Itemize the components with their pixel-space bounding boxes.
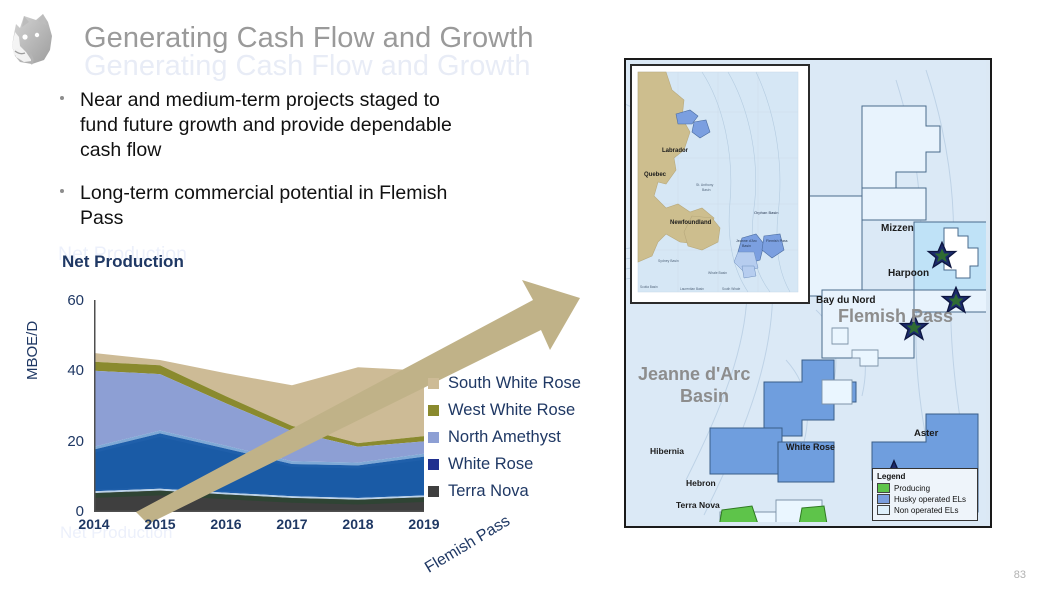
- map-legend-title: Legend: [877, 472, 973, 481]
- map-legend-item-husky-els: Husky operated ELs: [877, 494, 973, 504]
- map-legend-item-non-operated-els: Non operated ELs: [877, 505, 973, 515]
- legend-label: West White Rose: [448, 401, 575, 420]
- list-item: Long-term commercial potential in Flemis…: [52, 181, 452, 231]
- y-tick-20: 20: [52, 433, 84, 450]
- y-axis-label: MBOE/D: [24, 321, 41, 380]
- svg-text:South Whale: South Whale: [722, 287, 740, 291]
- bullet-list: Near and medium-term projects staged to …: [52, 88, 452, 249]
- legend-swatch-icon: [428, 459, 439, 470]
- map-legend-label: Non operated ELs: [894, 506, 959, 515]
- slide-canvas: Generating Cash Flow and Growth Generati…: [0, 0, 1040, 593]
- x-tick-2015: 2015: [133, 516, 187, 532]
- bullet-text: Near and medium-term projects staged to …: [80, 89, 452, 161]
- bullet-text: Long-term commercial potential in Flemis…: [80, 182, 447, 229]
- legend-label: White Rose: [448, 455, 533, 474]
- svg-text:Flemish Pass: Flemish Pass: [766, 239, 788, 243]
- map-legend-label: Producing: [894, 484, 930, 493]
- legend-item-north-amethyst[interactable]: North Amethyst: [428, 428, 581, 447]
- svg-text:Labrador: Labrador: [662, 148, 689, 154]
- legend-item-south-white-rose[interactable]: South White Rose: [428, 374, 581, 393]
- page-number: 83: [1014, 569, 1026, 581]
- chart-title: Net Production: [62, 252, 184, 272]
- legend-swatch-icon: [877, 505, 890, 515]
- legend-item-terra-nova[interactable]: Terra Nova: [428, 482, 581, 501]
- legend-swatch-icon: [428, 486, 439, 497]
- legend-item-white-rose[interactable]: White Rose: [428, 455, 581, 474]
- svg-text:Basin: Basin: [742, 244, 751, 248]
- legend-label: South White Rose: [448, 374, 581, 393]
- legend-swatch-icon: [428, 378, 439, 389]
- legend-label: Terra Nova: [448, 482, 529, 501]
- list-item: Near and medium-term projects staged to …: [52, 88, 452, 163]
- x-tick-2018: 2018: [331, 516, 385, 532]
- map-legend-label: Husky operated ELs: [894, 495, 966, 504]
- x-tick-2014: 2014: [67, 516, 121, 532]
- x-tick-2017: 2017: [265, 516, 319, 532]
- svg-text:Jeanne d'Arc: Jeanne d'Arc: [736, 239, 757, 243]
- legend-swatch-icon: [428, 432, 439, 443]
- page-title: Generating Cash Flow and Growth: [84, 22, 534, 55]
- x-tick-2016: 2016: [199, 516, 253, 532]
- svg-text:Orphan Basin: Orphan Basin: [754, 210, 778, 215]
- svg-text:Whale Basin: Whale Basin: [708, 271, 727, 275]
- bullet-dot-icon: [60, 189, 64, 193]
- map-legend: Legend Producing Husky operated ELs Non …: [872, 468, 978, 521]
- legend-swatch-icon: [428, 405, 439, 416]
- x-tick-2019: 2019: [397, 516, 451, 532]
- legend-label: North Amethyst: [448, 428, 561, 447]
- svg-text:Basin: Basin: [702, 188, 711, 192]
- offshore-map-panel: Labrador Quebec Newfoundland Orphan Basi…: [624, 58, 992, 528]
- husky-dog-head-logo: [2, 6, 68, 72]
- svg-text:Laurentian Basin: Laurentian Basin: [680, 287, 704, 291]
- svg-text:Newfoundland: Newfoundland: [670, 220, 712, 226]
- y-tick-60: 60: [52, 292, 84, 309]
- map-legend-item-producing: Producing: [877, 483, 973, 493]
- net-production-chart: Net Production MBOE/D 60 40 20 0: [26, 252, 616, 542]
- legend-item-west-white-rose[interactable]: West White Rose: [428, 401, 581, 420]
- svg-text:St. Anthony: St. Anthony: [696, 183, 714, 187]
- y-tick-40: 40: [52, 362, 84, 379]
- chart-legend: South White Rose West White Rose North A…: [428, 374, 581, 509]
- svg-text:Sydney Basin: Sydney Basin: [658, 259, 679, 263]
- regional-inset-map: Labrador Quebec Newfoundland Orphan Basi…: [630, 64, 810, 304]
- svg-text:Scotia Basin: Scotia Basin: [640, 285, 658, 289]
- bullet-dot-icon: [60, 96, 64, 100]
- legend-swatch-icon: [877, 483, 890, 493]
- legend-swatch-icon: [877, 494, 890, 504]
- svg-text:Quebec: Quebec: [644, 172, 667, 178]
